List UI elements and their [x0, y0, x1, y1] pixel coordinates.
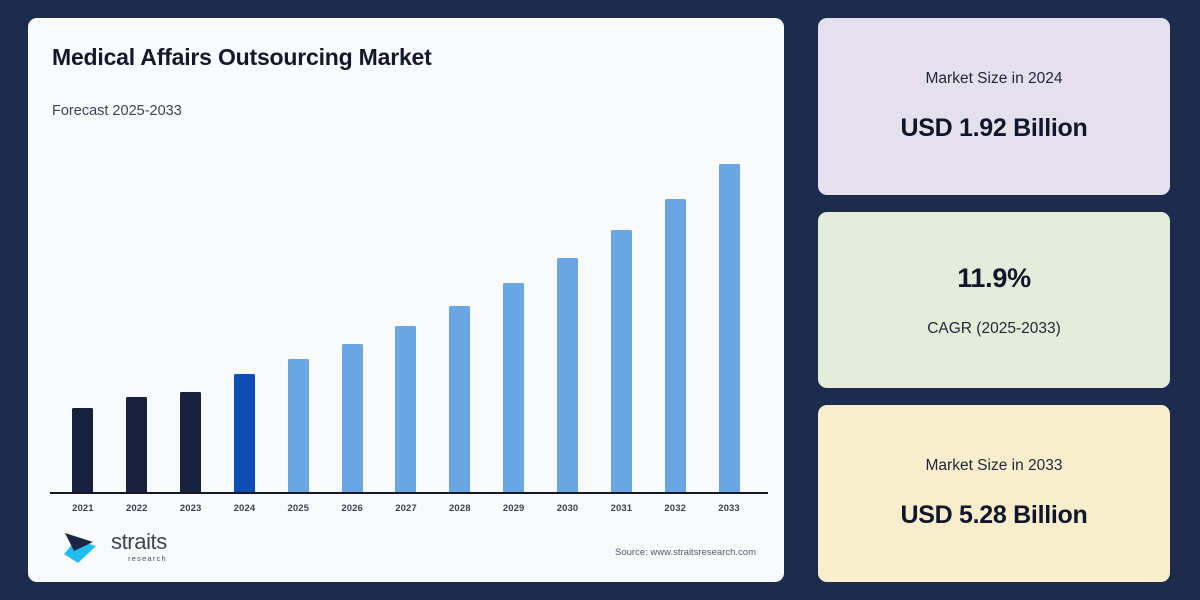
x-tick-2028: 2028: [433, 503, 487, 514]
x-tick-2023: 2023: [164, 503, 218, 514]
x-tick-2030: 2030: [541, 503, 595, 514]
bar-2029: [503, 283, 524, 493]
bar-series: [56, 132, 756, 493]
x-tick-2026: 2026: [325, 503, 379, 514]
card-value: USD 1.92 Billion: [901, 114, 1088, 143]
bar-2021: [72, 408, 93, 493]
x-tick-2025: 2025: [271, 503, 325, 514]
bar-2028: [449, 306, 470, 493]
bar-slot: [218, 132, 272, 493]
stat-card-cagr: 11.9%CAGR (2025-2033): [818, 212, 1170, 389]
infographic-root: Medical Affairs Outsourcing Market Forec…: [0, 0, 1200, 600]
bar-2027: [395, 326, 416, 493]
x-axis-line: [50, 492, 768, 494]
x-axis-tick-labels: 2021202220232024202520262027202820292030…: [56, 503, 756, 514]
bar-slot: [56, 132, 110, 493]
bar-slot: [325, 132, 379, 493]
bar-chart-plot: [50, 133, 762, 494]
bar-2032: [665, 199, 686, 493]
x-tick-2032: 2032: [648, 503, 702, 514]
x-tick-2027: 2027: [379, 503, 433, 514]
x-tick-2024: 2024: [218, 503, 272, 514]
straits-arrow-icon: [62, 530, 104, 564]
x-tick-2031: 2031: [594, 503, 648, 514]
chart-panel: Medical Affairs Outsourcing Market Forec…: [28, 18, 784, 582]
source-attribution: Source: www.straitsresearch.com: [615, 547, 756, 564]
bar-slot: [110, 132, 164, 493]
bar-2026: [342, 344, 363, 493]
bar-slot: [594, 132, 648, 493]
bar-2033: [719, 164, 740, 493]
x-tick-2033: 2033: [702, 503, 756, 514]
straits-research-logo: straits research: [62, 530, 167, 564]
bar-slot: [648, 132, 702, 493]
bar-slot: [702, 132, 756, 493]
bar-slot: [433, 132, 487, 493]
card-label: Market Size in 2024: [926, 70, 1063, 88]
card-label: CAGR (2025-2033): [927, 320, 1061, 338]
bar-2023: [180, 392, 201, 493]
bar-2031: [611, 230, 632, 493]
bar-slot: [271, 132, 325, 493]
bar-2024: [234, 374, 255, 494]
chart-subtitle: Forecast 2025-2033: [52, 103, 762, 119]
stat-card-market-size-2024: Market Size in 2024USD 1.92 Billion: [818, 18, 1170, 195]
card-value: USD 5.28 Billion: [901, 501, 1088, 530]
logo-subword: research: [111, 555, 167, 563]
page-title: Medical Affairs Outsourcing Market: [52, 44, 762, 71]
chart-footer: straits research Source: www.straitsrese…: [50, 530, 762, 568]
bar-slot: [487, 132, 541, 493]
card-label: Market Size in 2033: [926, 457, 1063, 475]
bar-slot: [164, 132, 218, 493]
bar-2030: [557, 258, 578, 493]
x-tick-2022: 2022: [110, 503, 164, 514]
bar-slot: [541, 132, 595, 493]
stat-card-list: Market Size in 2024USD 1.92 Billion11.9%…: [818, 18, 1170, 582]
bar-slot: [379, 132, 433, 493]
stat-card-market-size-2033: Market Size in 2033USD 5.28 Billion: [818, 405, 1170, 582]
logo-wordmark: straits research: [111, 531, 167, 563]
x-tick-2021: 2021: [56, 503, 110, 514]
logo-word: straits: [111, 531, 167, 553]
bar-2025: [288, 359, 309, 493]
bar-2022: [126, 397, 147, 493]
x-tick-2029: 2029: [487, 503, 541, 514]
card-value: 11.9%: [957, 263, 1031, 294]
